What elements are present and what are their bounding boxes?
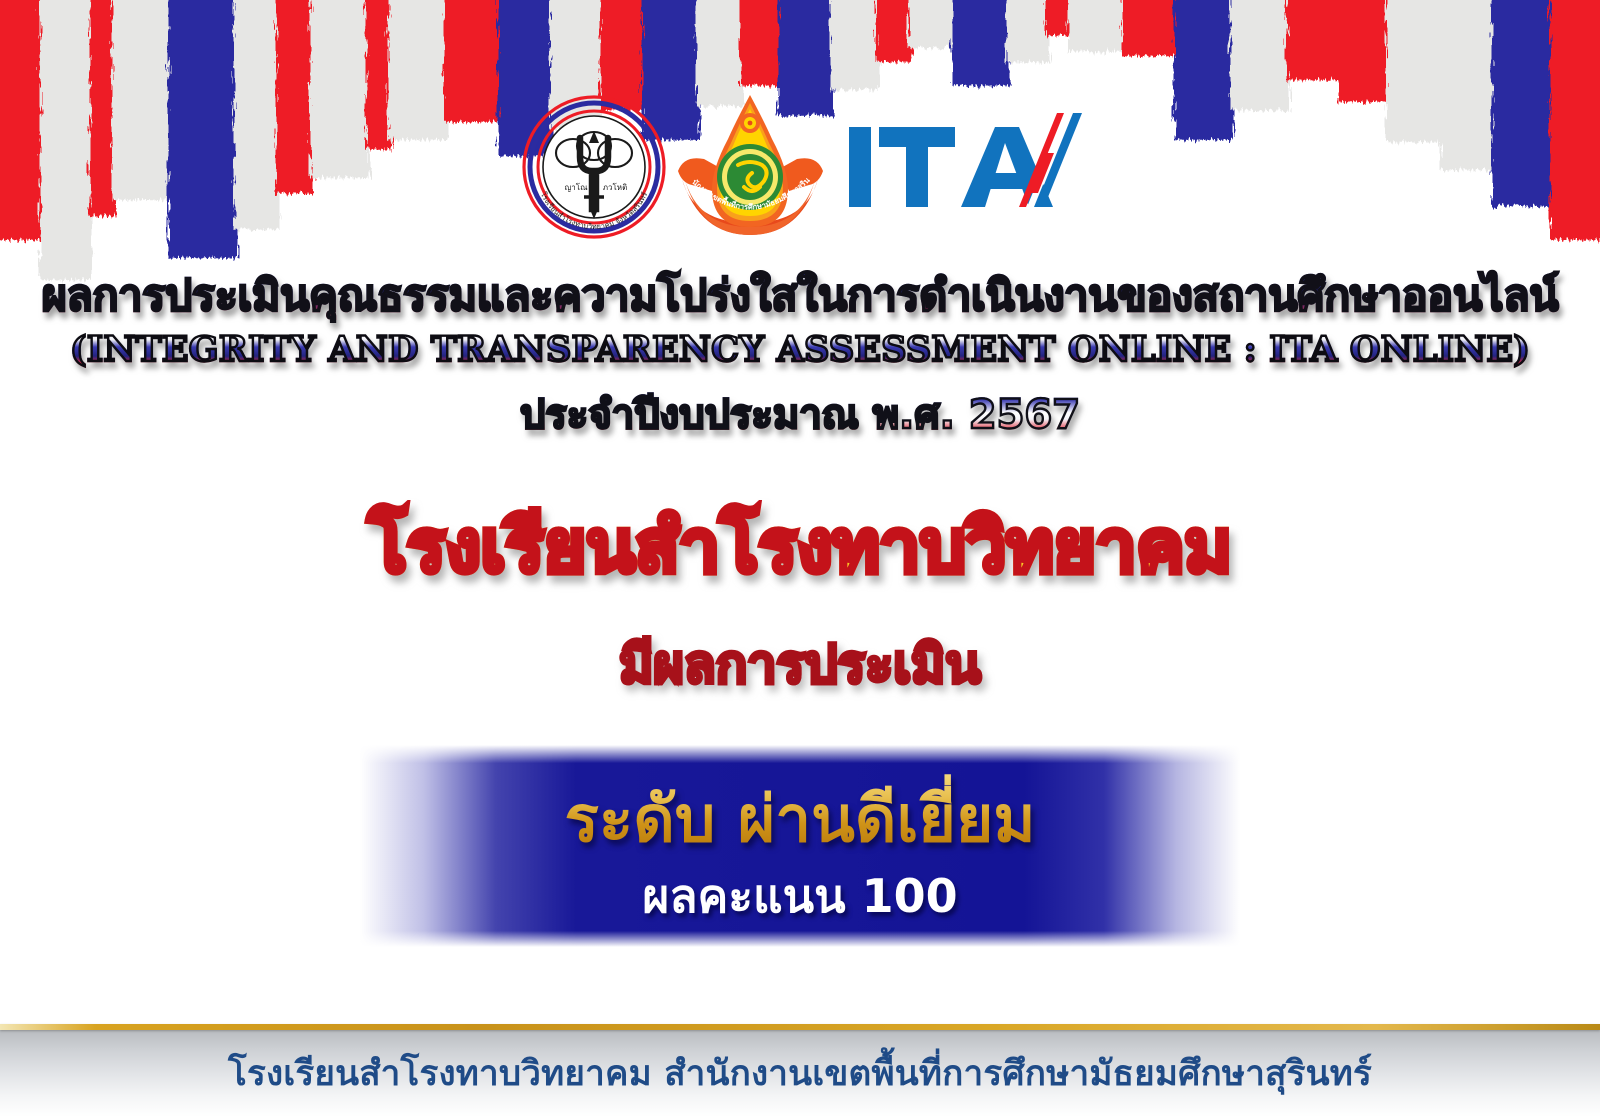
ita-logo: [843, 107, 1083, 227]
footer-organization-text: โรงเรียนสำโรงทาบวิทยาคม สำนักงานเขตพื้นท…: [0, 1030, 1600, 1117]
headline-thai-primary: ผลการประเมินคุณธรรมและความโปร่งใสในการดำ…: [0, 272, 1600, 320]
school-name-title: โรงเรียนสำโรงทาบวิทยาคม: [0, 505, 1600, 588]
result-label: มีผลการประเมิน: [0, 622, 1600, 705]
poster-canvas: ญาโณ ภวโหติ โรงเรียนสำโรงทาบวิทยาคม จังห…: [0, 0, 1600, 1117]
svg-text:ภวโหติ: ภวโหติ: [602, 182, 627, 192]
assessment-level-text: ระดับ ผ่านดีเยี่ยม: [0, 745, 1600, 854]
headline-fiscal-year: ประจำปีงบประมาณ พ.ศ. 2567: [0, 382, 1600, 446]
headline-block: ผลการประเมินคุณธรรมและความโปร่งใสในการดำ…: [0, 272, 1600, 446]
logo-row: ญาโณ ภวโหติ โรงเรียนสำโรงทาบวิทยาคม จังห…: [0, 92, 1600, 242]
svg-text:ญาโณ: ญาโณ: [564, 182, 588, 192]
headline-english: (INTEGRITY AND TRANSPARENCY ASSESSMENT O…: [0, 329, 1600, 370]
obec-emblem-logo: สำนักงานเขตพื้นที่การศึกษามัธยมศึกษาสุริ…: [668, 87, 833, 247]
assessment-score-text: ผลคะแนน 100: [0, 860, 1600, 933]
school-emblem-logo: ญาโณ ภวโหติ โรงเรียนสำโรงทาบวิทยาคม จังห…: [518, 91, 670, 243]
result-band: ระดับ ผ่านดีเยี่ยม ผลคะแนน 100: [0, 745, 1600, 947]
